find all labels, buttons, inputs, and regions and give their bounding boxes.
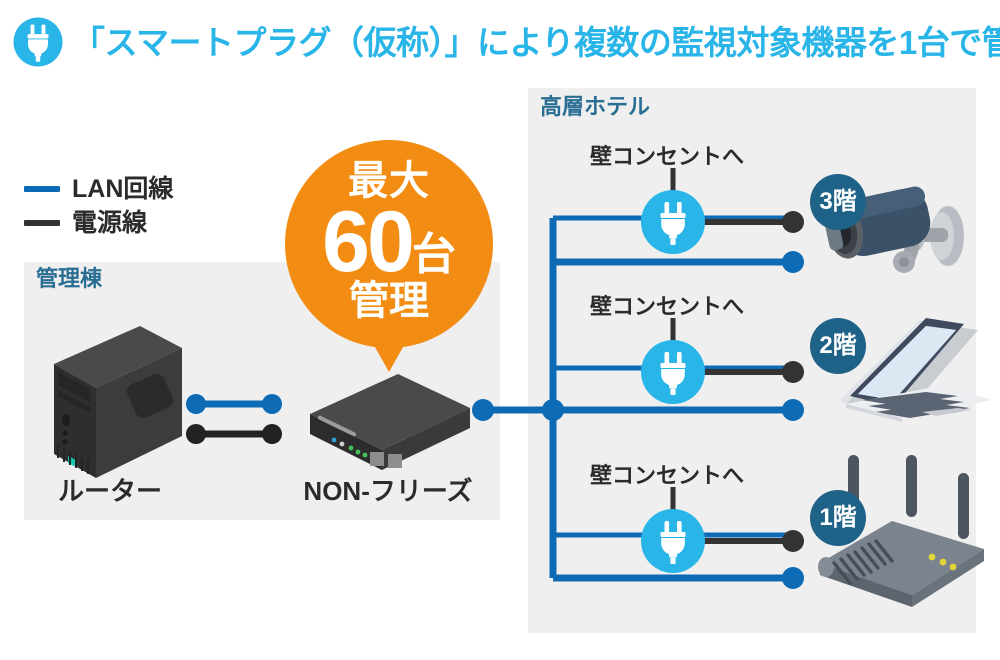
plug-icon (641, 340, 705, 404)
callout-tail-icon (371, 340, 407, 372)
line-swatch-icon (24, 220, 60, 226)
wall-socket-label-3f: 壁コンセントへ (590, 146, 744, 168)
floor-badge-3f: 3階 (810, 174, 866, 230)
legend-item-power: 電源線 (24, 206, 173, 240)
callout-top-text: 最大 (285, 140, 493, 201)
page-title: 「スマートプラグ（仮称）」により複数の監視対象機器を1台で管理 (72, 26, 1000, 59)
callout-number: 60 (322, 194, 412, 290)
page-header: 「スマートプラグ（仮称）」により複数の監視対象機器を1台で管理 (10, 6, 990, 78)
callout-count: 60台 (285, 199, 493, 285)
wall-socket-label-2f: 壁コンセントへ (590, 296, 744, 318)
legend-item-lan: LAN回線 (24, 172, 173, 206)
non-freeze-caption: NON-フリーズ (288, 478, 488, 504)
callout-balloon: 最大 60台 管理 (285, 140, 493, 348)
router-to-nonfreeze-links (186, 392, 284, 444)
panel-management-building-title: 管理棟 (36, 268, 102, 290)
wall-socket-label-1f: 壁コンセントへ (590, 465, 744, 487)
callout-unit: 台 (412, 230, 456, 279)
panel-hotel-title: 高層ホテル (540, 96, 650, 118)
legend-item-lan-label: LAN回線 (72, 177, 173, 202)
plug-icon (641, 509, 705, 573)
tower-pc-icon (42, 316, 192, 486)
plug-icon (641, 190, 705, 254)
plug-icon (10, 14, 66, 70)
line-swatch-icon (24, 186, 60, 192)
legend: LAN回線 電源線 (24, 172, 173, 240)
appliance-box-icon (298, 368, 478, 478)
callout-bottom-text: 管理 (285, 281, 493, 321)
legend-item-power-label: 電源線 (72, 211, 147, 236)
floor-badge-2f: 2階 (810, 318, 866, 374)
floor-badge-1f: 1階 (810, 490, 866, 546)
diagram-canvas: 管理棟 高層ホテル 「スマートプラグ（仮称）」により複数の監視対象機器を1台で管… (0, 0, 1000, 660)
